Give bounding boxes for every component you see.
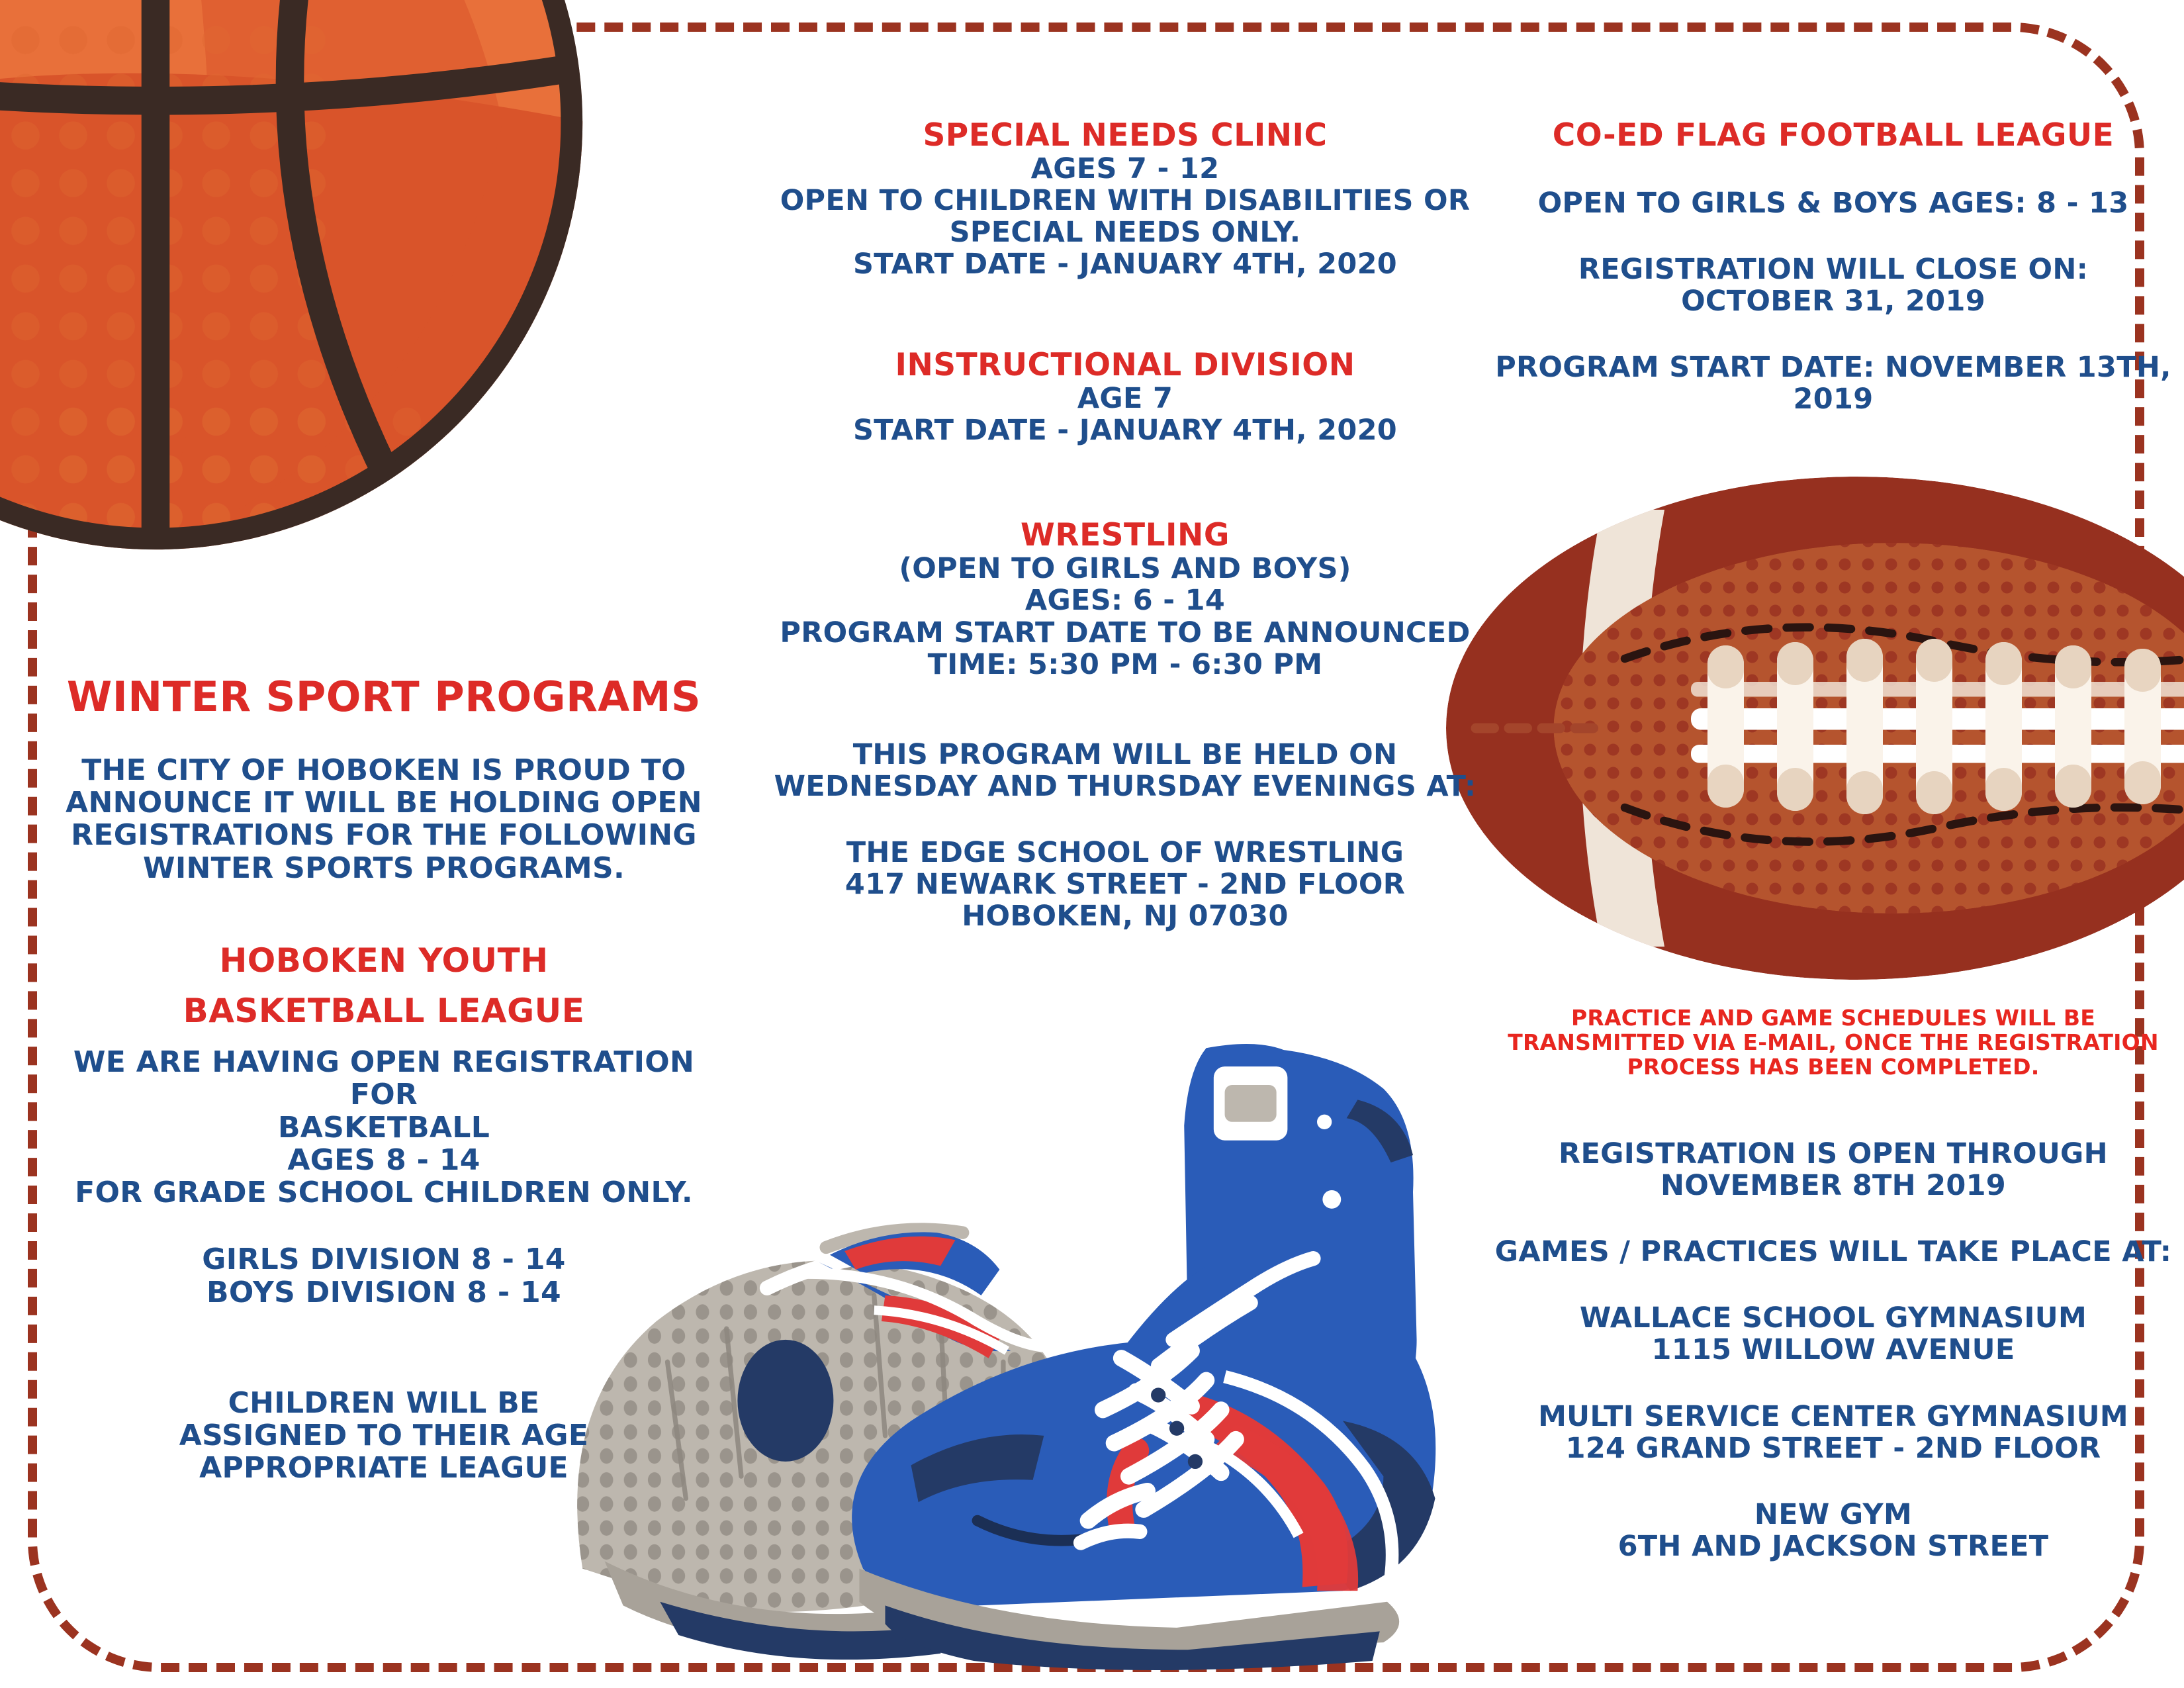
intro-paragraph: THE CITY OF HOBOKEN IS PROUD TO ANNOUNCE… <box>40 754 728 884</box>
ff-start-1: PROGRAM START DATE: NOVEMBER 13TH, <box>1482 352 2184 383</box>
ff-close-2: OCTOBER 31, 2019 <box>1482 285 2184 317</box>
wrest-venue-3: HOBOKEN, NJ 07030 <box>761 900 1489 932</box>
wrest-sched-2: WEDNESDAY AND THURSDAY EVENINGS AT: <box>761 771 1489 802</box>
girls-division: GIRLS DIVISION 8 - 14 <box>40 1243 728 1276</box>
right-column-top: CO-ED FLAG FOOTBALL LEAGUE OPEN TO GIRLS… <box>1482 119 2184 416</box>
wrestling-schedule: THIS PROGRAM WILL BE HELD ON WEDNESDAY A… <box>761 739 1489 802</box>
wrest-line-1: (OPEN TO GIRLS AND BOYS) <box>761 553 1489 585</box>
ff-close-1: REGISTRATION WILL CLOSE ON: <box>1482 254 2184 285</box>
basketball-details: WE ARE HAVING OPEN REGISTRATION FOR BASK… <box>40 1046 728 1209</box>
snc-line-1: AGES 7 - 12 <box>761 153 1489 185</box>
reg-open-2: NOVEMBER 8TH 2019 <box>1482 1170 2184 1201</box>
flag-football-heading: CO-ED FLAG FOOTBALL LEAGUE <box>1482 119 2184 153</box>
special-needs-clinic-details: AGES 7 - 12 OPEN TO CHILDREN WITH DISABI… <box>761 153 1489 281</box>
wrest-line-3: PROGRAM START DATE TO BE ANNOUNCED <box>761 617 1489 649</box>
boys-division: BOYS DIVISION 8 - 14 <box>40 1276 728 1309</box>
division-list: GIRLS DIVISION 8 - 14 BOYS DIVISION 8 - … <box>40 1243 728 1309</box>
assignment-line-1: CHILDREN WILL BE <box>40 1387 728 1419</box>
basketball-detail-2: BASKETBALL <box>40 1111 728 1144</box>
intro-line-2: ANNOUNCE IT WILL BE HOLDING OPEN <box>40 786 728 819</box>
snc-line-3: SPECIAL NEEDS ONLY. <box>761 216 1489 248</box>
venue-1-name: WALLACE SCHOOL GYMNASIUM <box>1482 1302 2184 1334</box>
flag-football-ages: OPEN TO GIRLS & BOYS AGES: 8 - 13 <box>1482 187 2184 219</box>
venue-2-address: 124 GRAND STREET - 2ND FLOOR <box>1482 1432 2184 1464</box>
venue-item: WALLACE SCHOOL GYMNASIUM 1115 WILLOW AVE… <box>1482 1302 2184 1366</box>
intro-line-1: THE CITY OF HOBOKEN IS PROUD TO <box>40 754 728 786</box>
flag-football-registration-close: REGISTRATION WILL CLOSE ON: OCTOBER 31, … <box>1482 254 2184 317</box>
snc-line-4: START DATE - JANUARY 4TH, 2020 <box>761 248 1489 280</box>
wrestling-venue-address: THE EDGE SCHOOL OF WRESTLING 417 NEWARK … <box>761 837 1489 932</box>
right-column-bottom: PRACTICE AND GAME SCHEDULES WILL BE TRAN… <box>1482 1006 2184 1562</box>
basketball-detail-4: FOR GRADE SCHOOL CHILDREN ONLY. <box>40 1176 728 1209</box>
venue-2-name: MULTI SERVICE CENTER GYMNASIUM <box>1482 1401 2184 1432</box>
basketball-league-heading-line2: BASKETBALL LEAGUE <box>40 993 728 1029</box>
instructional-division-details: AGE 7 START DATE - JANUARY 4TH, 2020 <box>761 383 1489 446</box>
basketball-detail-3: AGES 8 - 14 <box>40 1144 728 1176</box>
instr-line-1: AGE 7 <box>761 383 1489 414</box>
flag-football-program-start: PROGRAM START DATE: NOVEMBER 13TH, 2019 <box>1482 352 2184 415</box>
assignment-line-2: ASSIGNED TO THEIR AGE <box>40 1419 728 1452</box>
venue-item: MULTI SERVICE CENTER GYMNASIUM 124 GRAND… <box>1482 1401 2184 1464</box>
intro-line-4: WINTER SPORTS PROGRAMS. <box>40 852 728 884</box>
ff-start-2: 2019 <box>1482 383 2184 415</box>
basketball-graphic <box>0 0 589 556</box>
registration-open-through: REGISTRATION IS OPEN THROUGH NOVEMBER 8T… <box>1482 1138 2184 1201</box>
wrest-line-4: TIME: 5:30 PM - 6:30 PM <box>761 649 1489 680</box>
wrest-line-2: AGES: 6 - 14 <box>761 585 1489 616</box>
intro-line-3: REGISTRATIONS FOR THE FOLLOWING <box>40 819 728 851</box>
instr-line-2: START DATE - JANUARY 4TH, 2020 <box>761 414 1489 446</box>
wrestling-details: (OPEN TO GIRLS AND BOYS) AGES: 6 - 14 PR… <box>761 553 1489 680</box>
age-assignment-note: CHILDREN WILL BE ASSIGNED TO THEIR AGE A… <box>40 1387 728 1485</box>
sched-note-1: PRACTICE AND GAME SCHEDULES WILL BE <box>1482 1006 2184 1031</box>
schedule-email-note: PRACTICE AND GAME SCHEDULES WILL BE TRAN… <box>1482 1006 2184 1080</box>
sched-note-3: PROCESS HAS BEEN COMPLETED. <box>1482 1055 2184 1080</box>
wrestling-heading: WRESTLING <box>761 519 1489 553</box>
venue-item: NEW GYM 6TH AND JACKSON STREET <box>1482 1499 2184 1562</box>
venues-intro: GAMES / PRACTICES WILL TAKE PLACE AT: <box>1482 1236 2184 1268</box>
wrest-sched-1: THIS PROGRAM WILL BE HELD ON <box>761 739 1489 771</box>
snc-line-2: OPEN TO CHILDREN WITH DISABILITIES OR <box>761 185 1489 216</box>
venue-3-address: 6TH AND JACKSON STREET <box>1482 1530 2184 1562</box>
flyer-page: WINTER SPORT PROGRAMS THE CITY OF HOBOKE… <box>0 0 2184 1688</box>
assignment-line-3: APPROPRIATE LEAGUE <box>40 1452 728 1484</box>
basketball-detail-1: WE ARE HAVING OPEN REGISTRATION FOR <box>40 1046 728 1111</box>
sched-note-2: TRANSMITTED VIA E-MAIL, ONCE THE REGISTR… <box>1482 1031 2184 1055</box>
wrest-venue-1: THE EDGE SCHOOL OF WRESTLING <box>761 837 1489 868</box>
winter-sport-programs-title: WINTER SPORT PROGRAMS <box>40 675 728 720</box>
football-graphic <box>1443 463 2184 993</box>
wrest-venue-2: 417 NEWARK STREET - 2ND FLOOR <box>761 868 1489 900</box>
left-column: WINTER SPORT PROGRAMS THE CITY OF HOBOKE… <box>40 675 728 1485</box>
instructional-division-heading: INSTRUCTIONAL DIVISION <box>761 349 1489 383</box>
reg-open-1: REGISTRATION IS OPEN THROUGH <box>1482 1138 2184 1170</box>
venue-3-name: NEW GYM <box>1482 1499 2184 1530</box>
venue-1-address: 1115 WILLOW AVENUE <box>1482 1334 2184 1366</box>
special-needs-clinic-heading: SPECIAL NEEDS CLINIC <box>761 119 1489 153</box>
basketball-league-heading-line1: HOBOKEN YOUTH <box>40 943 728 978</box>
center-column: SPECIAL NEEDS CLINIC AGES 7 - 12 OPEN TO… <box>761 119 1489 933</box>
